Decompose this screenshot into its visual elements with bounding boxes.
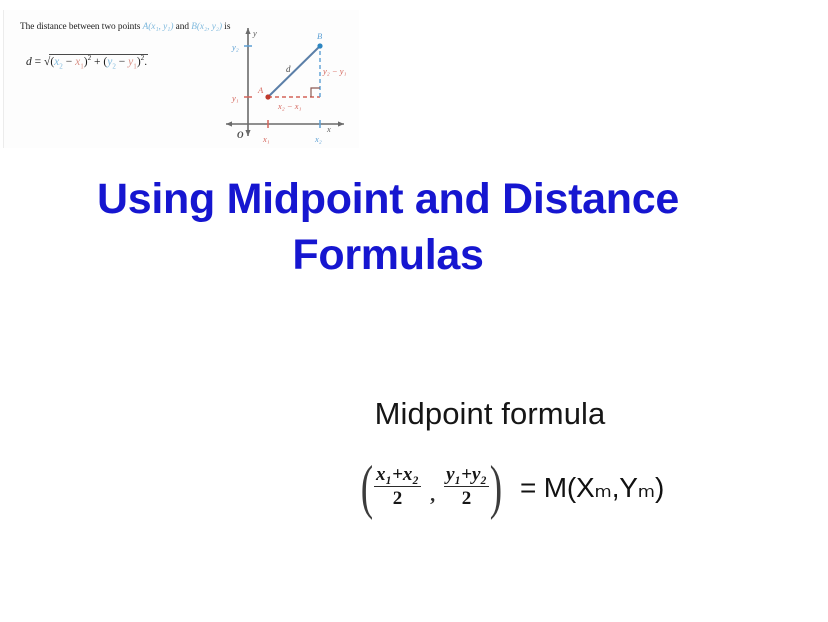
- graph-origin-label: O: [237, 130, 244, 140]
- definition-prefix: The distance between two points: [20, 22, 143, 32]
- graph-axis-x-label: x: [326, 124, 331, 134]
- equation-lead: d =: [26, 56, 44, 68]
- midpoint-formula-expression: ( x₁+x₂ 2 , y₁+y₂ 2 ) = M(Xₘ,Yₘ): [357, 456, 664, 518]
- graph-leg-vertical-label: y₂ − y₁: [322, 66, 346, 76]
- close-paren: ): [490, 463, 502, 511]
- definition-point-a: A(x₁, y₁): [143, 22, 174, 32]
- fraction-x-denominator: 2: [393, 487, 403, 509]
- formula-comma: ,: [421, 468, 444, 507]
- coordinate-graph: x y O A B d x₂ − x₁ y₂ − y₁ x₁ x₂ y₁ y₂: [216, 14, 356, 146]
- definition-middle: and: [173, 22, 191, 32]
- graph-point-b-label: B: [317, 31, 322, 41]
- midpoint-formula-heading: Midpoint formula: [240, 396, 740, 432]
- open-paren: (: [361, 463, 373, 511]
- title-line-2: Formulas: [64, 228, 712, 284]
- graph-leg-horizontal-label: x₂ − x₁: [277, 101, 301, 111]
- graph-axis-y-label: y: [252, 28, 257, 38]
- fraction-y-denominator: 2: [462, 487, 472, 509]
- fraction-y-numerator: y₁+y₂: [444, 465, 489, 487]
- page-title: Using Midpoint and Distance Formulas: [64, 172, 712, 284]
- radicand: (x2 − x1)2 + (y2 − y1)2.: [49, 54, 148, 68]
- graph-tick-y2-label: y₂: [231, 42, 239, 52]
- fraction-x-numerator: x₁+x₂: [374, 465, 421, 487]
- axes-group: [226, 28, 344, 136]
- graph-tick-y1-label: y₁: [231, 93, 239, 103]
- distance-formula-equation: d = √(x2 − x1)2 + (y2 − y1)2.: [26, 54, 148, 68]
- title-line-1: Using Midpoint and Distance: [64, 172, 712, 228]
- distance-formula-clipart: The distance between two points A(x₁, y₁…: [3, 10, 359, 148]
- graph-tick-x2-label: x₂: [314, 134, 322, 144]
- graph-segment-d-label: d: [286, 64, 291, 74]
- midpoint-result-expression: = M(Xₘ,Yₘ): [506, 471, 664, 504]
- fraction-x-midpoint: x₁+x₂ 2: [374, 465, 421, 509]
- graph-tick-x1-label: x₁: [262, 134, 270, 144]
- graph-point-a-label: A: [257, 85, 264, 95]
- fraction-y-midpoint: y₁+y₂ 2: [444, 465, 489, 509]
